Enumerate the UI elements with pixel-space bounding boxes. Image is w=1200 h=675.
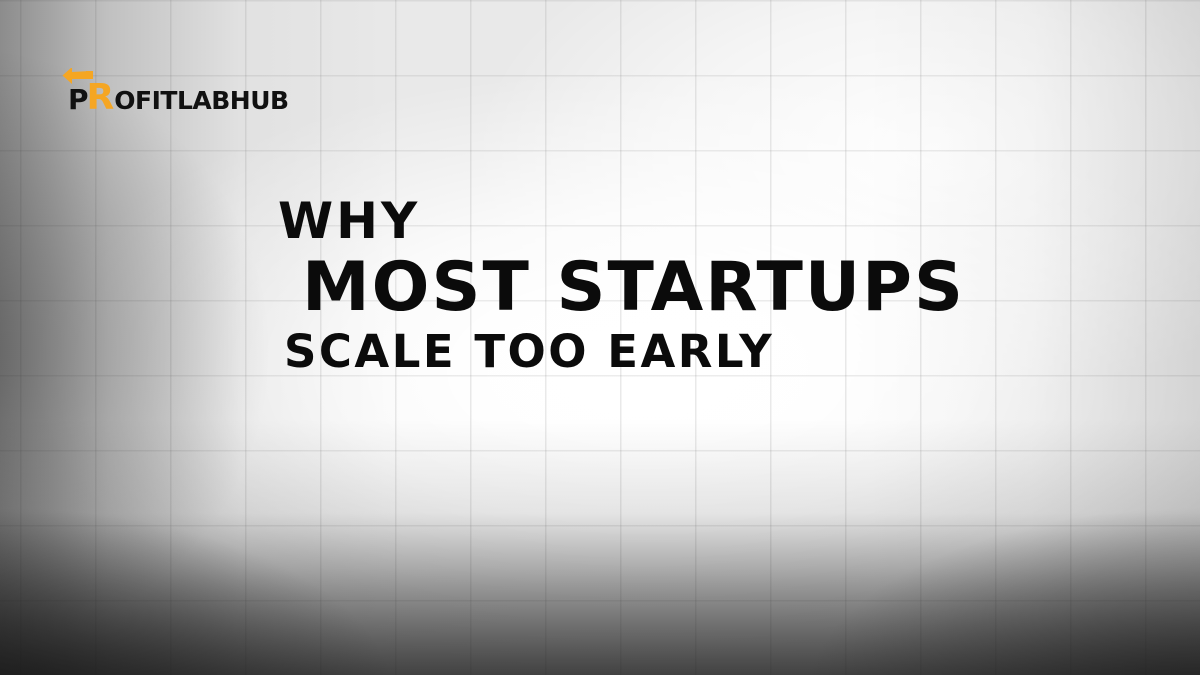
brand-logo-letter-p: P xyxy=(68,86,88,114)
brand-logo-suffix: OFITLABHUB xyxy=(114,88,288,113)
brand-logo[interactable]: P R OFITLABHUB xyxy=(68,72,289,116)
brand-logo-letter-r-glyph: R xyxy=(87,77,114,118)
slide-canvas: P R OFITLABHUB WHY MOST STARTUPS SCALE T… xyxy=(0,0,1200,675)
brand-logo-wordmark: P R OFITLABHUB xyxy=(68,80,289,116)
headline-line-3: SCALE TOO EARLY xyxy=(284,329,1200,374)
headline-line-2: MOST STARTUPS xyxy=(302,254,1200,322)
brand-logo-letter-r: R xyxy=(87,80,114,116)
headline-line-1: WHY xyxy=(278,196,1200,246)
headline-block: WHY MOST STARTUPS SCALE TOO EARLY xyxy=(0,196,1200,374)
